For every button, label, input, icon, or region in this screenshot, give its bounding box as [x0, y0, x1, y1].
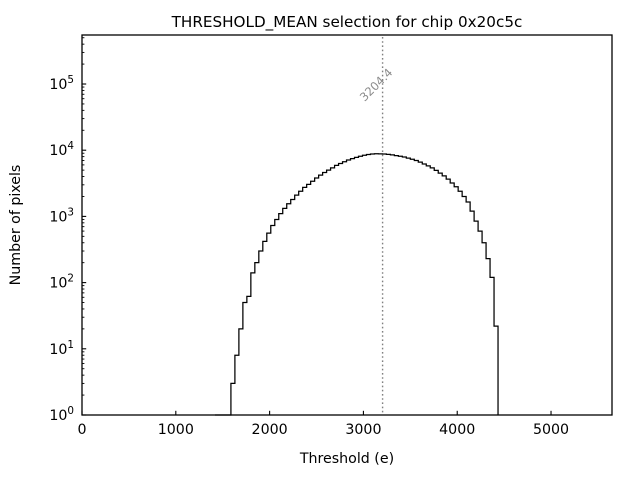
histogram-chart: THRESHOLD_MEAN selection for chip 0x20c5… — [0, 0, 640, 480]
y-tick-label-1: 100 — [49, 405, 74, 424]
plot-background — [82, 35, 612, 415]
x-tick-label-5000: 5000 — [533, 422, 569, 438]
y-tick-label-10000: 104 — [49, 140, 74, 159]
y-tick-label-100: 102 — [49, 273, 74, 292]
x-axis-label: Threshold (e) — [299, 451, 394, 467]
matplotlib-figure: THRESHOLD_MEAN selection for chip 0x20c5… — [0, 0, 640, 480]
y-tick-label-100000: 105 — [49, 74, 74, 93]
x-tick-label-2000: 2000 — [252, 422, 288, 438]
x-tick-label-3000: 3000 — [345, 422, 381, 438]
x-tick-label-0: 0 — [77, 422, 86, 438]
x-tick-label-1000: 1000 — [158, 422, 194, 438]
y-tick-label-1000: 103 — [49, 206, 74, 225]
x-axis-tick-labels: 010002000300040005000 — [77, 422, 569, 438]
y-tick-label-10: 101 — [49, 339, 74, 358]
y-axis-tick-labels: 100101102103104105 — [49, 74, 74, 424]
y-axis-label: Number of pixels — [8, 165, 24, 286]
chart-title: THRESHOLD_MEAN selection for chip 0x20c5… — [171, 13, 523, 32]
x-tick-label-4000: 4000 — [439, 422, 475, 438]
